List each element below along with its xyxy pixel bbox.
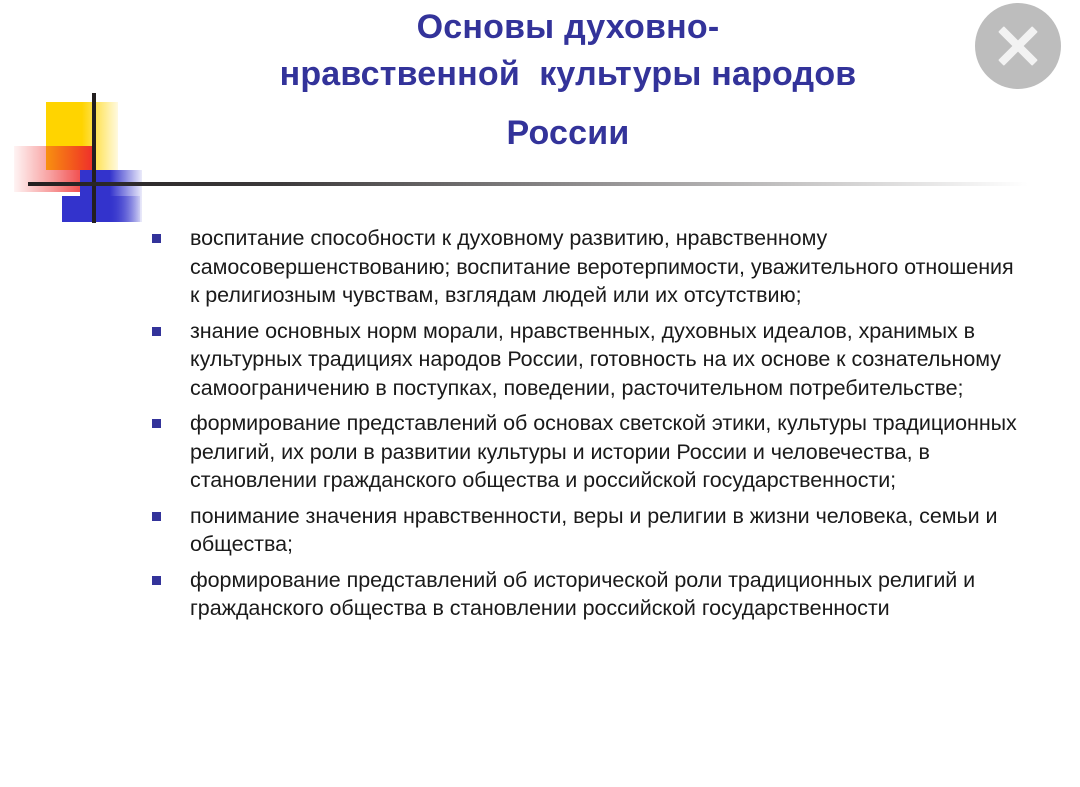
vertical-rule (92, 93, 96, 223)
title-line-2: нравственной культуры народов (168, 51, 968, 98)
bullet-list: воспитание способности к духовному разви… (148, 224, 1028, 630)
list-item-text: формирование представлений об основах св… (190, 409, 1028, 495)
list-item: формирование представлений об историческ… (148, 566, 1028, 623)
red-gradient-rectangle-icon (14, 146, 96, 192)
close-button[interactable] (975, 3, 1061, 89)
bullet-square-icon (152, 327, 161, 336)
decorative-motif (0, 80, 1080, 240)
blue-bar-icon (62, 196, 140, 222)
bullet-square-icon (152, 512, 161, 521)
bullet-square-icon (152, 419, 161, 428)
list-item: знание основных норм морали, нравственны… (148, 317, 1028, 403)
bullet-square-icon (152, 234, 161, 243)
list-item: воспитание способности к духовному разви… (148, 224, 1028, 310)
list-item-text: формирование представлений об историческ… (190, 566, 1028, 623)
bullet-square-icon (152, 576, 161, 585)
horizontal-rule (28, 182, 1028, 186)
list-item-text: понимание значения нравственности, веры … (190, 502, 1028, 559)
list-item-text: знание основных норм морали, нравственны… (190, 317, 1028, 403)
yellow-square-icon (46, 102, 118, 170)
presentation-slide: Основы духовно- нравственной культуры на… (0, 0, 1080, 787)
blue-square-icon (80, 170, 142, 222)
list-item: формирование представлений об основах св… (148, 409, 1028, 495)
list-item: понимание значения нравственности, веры … (148, 502, 1028, 559)
list-item-text: воспитание способности к духовному разви… (190, 224, 1028, 310)
title-line-1: Основы духовно- (168, 4, 968, 51)
page-title: Основы духовно- нравственной культуры на… (168, 4, 968, 157)
title-line-3: России (168, 110, 968, 157)
